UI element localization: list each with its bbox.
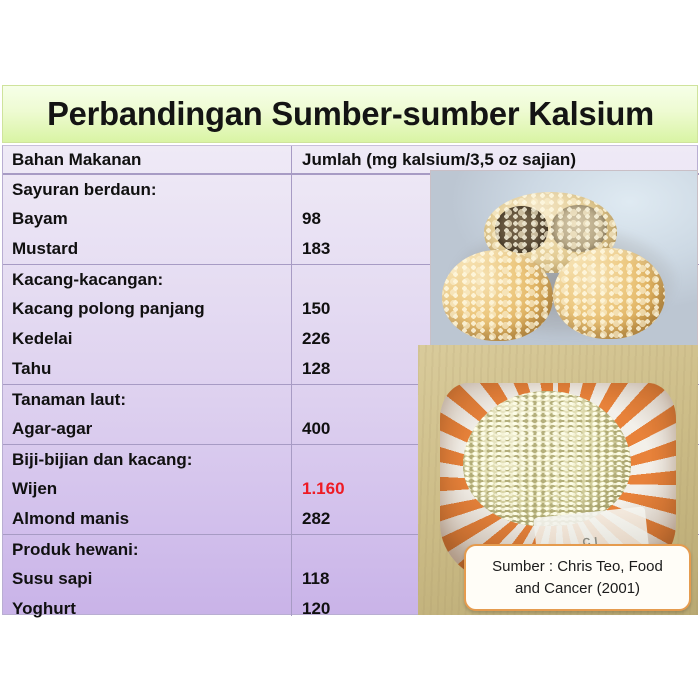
food-name-cell: Yoghurt — [3, 599, 291, 619]
group-label: Tanaman laut: — [3, 390, 291, 410]
source-caption-box: Sumber : Chris Teo, Food and Cancer (200… — [464, 544, 691, 611]
food-name-cell: Tahu — [3, 359, 291, 379]
page-title: Perbandingan Sumber-sumber Kalsium — [47, 95, 654, 133]
table-header-name: Bahan Makanan — [3, 150, 291, 170]
food-name-cell: Mustard — [3, 239, 291, 259]
group-label: Kacang-kacangan: — [3, 270, 291, 290]
group-label: Produk hewani: — [3, 540, 291, 560]
dark-filling — [495, 206, 548, 253]
whole-sesame-ball-right — [553, 248, 665, 339]
food-name-cell: Bayam — [3, 209, 291, 229]
slide-title-band: Perbandingan Sumber-sumber Kalsium — [2, 85, 698, 143]
group-label: Sayuran berdaun: — [3, 180, 291, 200]
light-filling — [551, 205, 607, 252]
food-name-cell: Kedelai — [3, 329, 291, 349]
sesame-seed-mound — [463, 391, 631, 526]
food-name-cell: Almond manis — [3, 509, 291, 529]
food-name-cell: Kacang polong panjang — [3, 299, 291, 319]
food-name-cell: Wijen — [3, 479, 291, 499]
food-name-cell: Agar-agar — [3, 419, 291, 439]
sesame-balls-photo — [430, 170, 698, 347]
whole-sesame-ball-left — [442, 250, 554, 341]
group-label: Biji-bijian dan kacang: — [3, 450, 291, 470]
table-header-value: Jumlah (mg kalsium/3,5 oz sajian) — [291, 150, 699, 170]
food-name-cell: Susu sapi — [3, 569, 291, 589]
source-caption-text: Sumber : Chris Teo, Food and Cancer (200… — [484, 556, 671, 600]
slide-canvas: Perbandingan Sumber-sumber Kalsium Bahan… — [0, 0, 700, 700]
